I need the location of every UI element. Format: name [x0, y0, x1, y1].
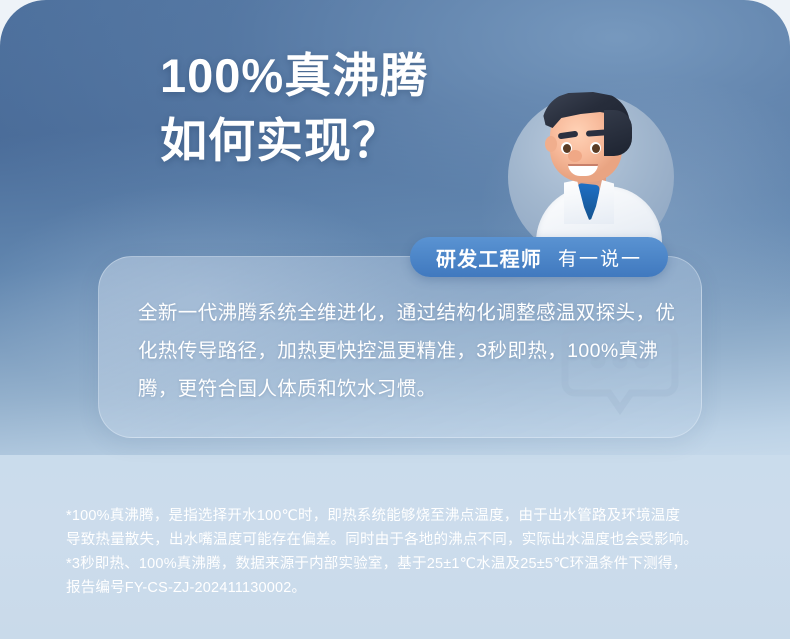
avatar-hair-side: [604, 110, 632, 156]
footnote-line: *3秒即热、100%真沸腾，数据来源于内部实验室，基于25±1℃水温及25±5℃…: [66, 553, 766, 577]
badge-subtitle: 有一说一: [558, 244, 642, 271]
footnote-line: *100%真沸腾，是指选择开水100℃时，即热系统能够烧至沸点温度，由于出水管路…: [66, 505, 766, 529]
footnotes: *100%真沸腾，是指选择开水100℃时，即热系统能够烧至沸点温度，由于出水管路…: [66, 505, 766, 601]
avatar-pupil-right: [592, 144, 600, 153]
status-badge: 研发工程师 有一说一: [410, 237, 668, 277]
badge-title: 研发工程师: [436, 243, 542, 272]
footnote-line: 报告编号FY-CS-ZJ-202411130002。: [66, 577, 766, 601]
card-body-text: 全新一代沸腾系统全维进化，通过结构化调整感温双探头，优化热传导路径，加热更快控温…: [138, 294, 678, 408]
promo-poster: 100%真沸腾 如何实现？ 全新一代沸腾系统全维进化，通过结构化调整感温双探头，…: [0, 0, 790, 639]
avatar-ear: [545, 136, 557, 152]
avatar-nose: [568, 150, 582, 162]
footnote-line: 导致热量散失，出水嘴温度可能存在偏差。同时由于各地的沸点不同，实际出水温度也会受…: [66, 529, 766, 553]
